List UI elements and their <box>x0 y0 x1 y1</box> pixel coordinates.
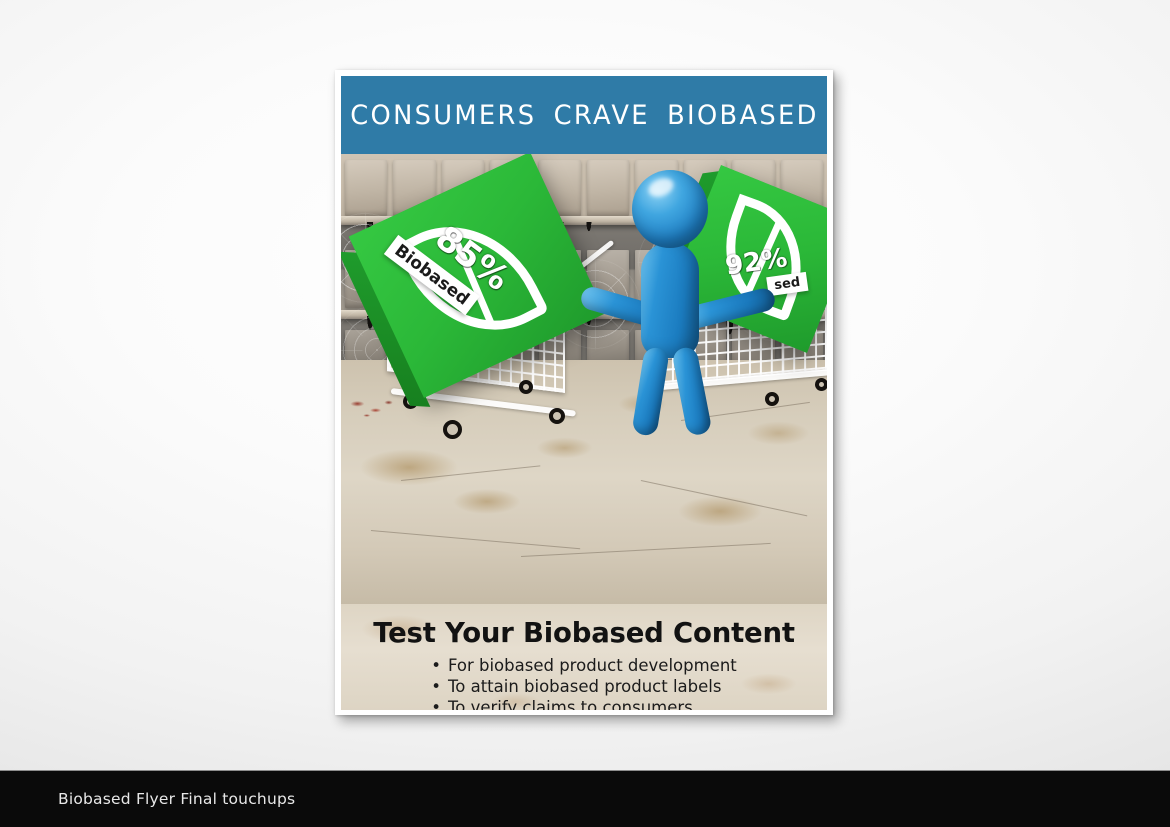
bullet-item: For biobased product development <box>431 655 737 676</box>
bullet-item: To verify claims to consumers <box>431 697 737 710</box>
floor-stain <box>347 396 399 422</box>
caption-bar: Biobased Flyer Final touchups <box>0 770 1170 827</box>
caption-text: Biobased Flyer Final touchups <box>58 790 295 808</box>
figure-torso <box>641 242 699 358</box>
poster-message-block: Test Your Biobased Content For biobased … <box>341 604 827 710</box>
poster-photograph: 85% Biobased 92% sed <box>341 154 827 604</box>
bullet-item: To attain biobased product labels <box>431 676 737 697</box>
floor-crack <box>401 465 540 481</box>
blue-shopper-figure <box>609 170 749 420</box>
poster-headline: Test Your Biobased Content <box>341 617 827 649</box>
presentation-stage: CONSUMERS CRAVE BIOBASED <box>0 0 1170 770</box>
floor-crack <box>521 543 771 557</box>
floor-crack <box>371 530 580 549</box>
screenshot-root: CONSUMERS CRAVE BIOBASED <box>0 0 1170 827</box>
corner-ribbon-decoration <box>0 0 238 28</box>
figure-head <box>632 170 708 248</box>
poster-title: CONSUMERS CRAVE BIOBASED <box>350 100 818 131</box>
poster: CONSUMERS CRAVE BIOBASED <box>341 76 827 710</box>
poster-canvas[interactable]: CONSUMERS CRAVE BIOBASED <box>335 70 833 715</box>
poster-header-band: CONSUMERS CRAVE BIOBASED <box>341 76 827 154</box>
floor-crack <box>641 480 807 516</box>
poster-bullet-list: For biobased product development To atta… <box>431 655 737 710</box>
